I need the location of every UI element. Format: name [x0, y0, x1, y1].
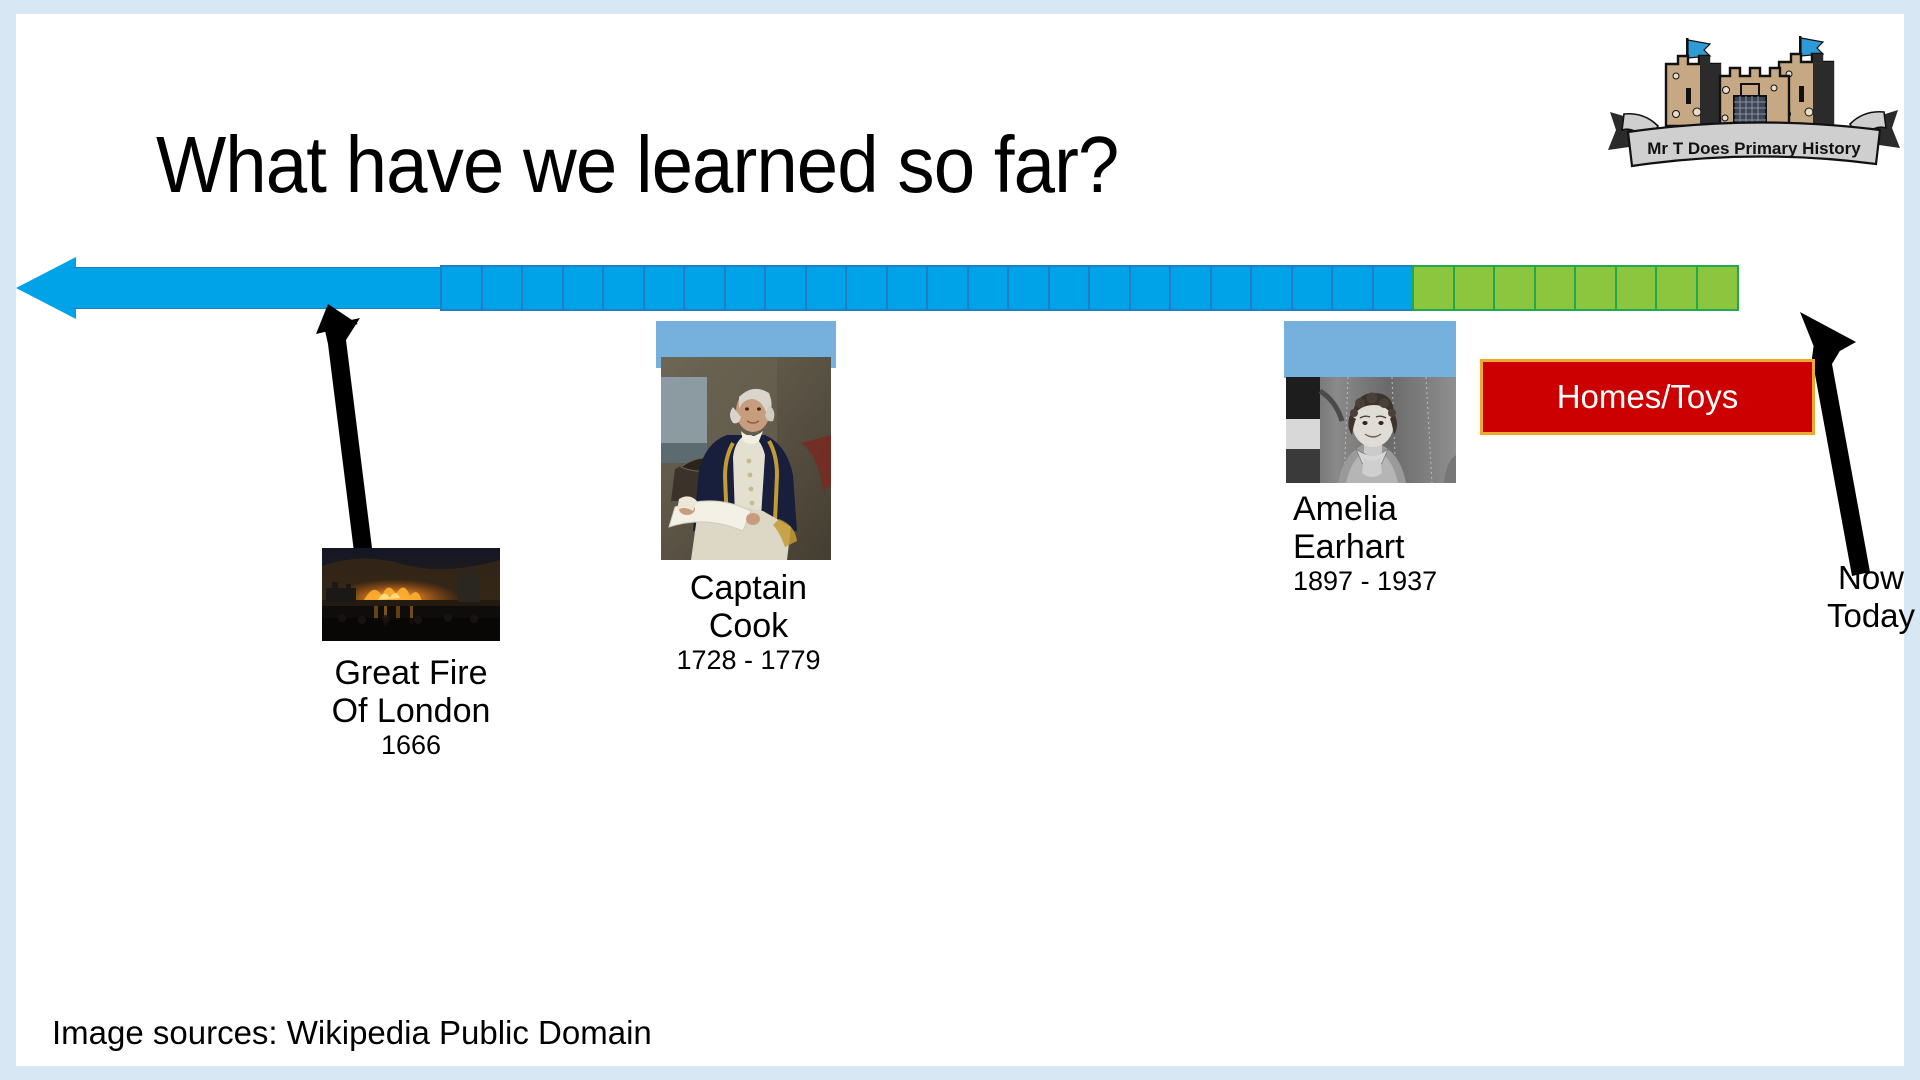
- homes-toys-label: Homes/Toys: [1557, 378, 1739, 416]
- timeline-segment-green: [1412, 265, 1455, 311]
- timeline-segment-blue: [521, 265, 564, 311]
- captain-cook-image: [661, 357, 831, 560]
- timeline-segment-blue: [724, 265, 767, 311]
- timeline-segment-blue: [643, 265, 686, 311]
- slide-canvas: What have we learned so far?: [16, 14, 1904, 1066]
- timeline-segment-blue: [481, 265, 524, 311]
- timeline-segment-blue: [1048, 265, 1091, 311]
- great-fire-caption: Great Fire Of London 1666: [266, 654, 556, 760]
- timeline-arrow-shaft: [74, 267, 444, 309]
- great-fire-name-line1: Great Fire: [266, 654, 556, 692]
- great-fire-dates: 1666: [266, 730, 556, 760]
- image-sources-footer: Image sources: Wikipedia Public Domain: [52, 1014, 652, 1052]
- now-label-line2: Today: [1806, 597, 1920, 635]
- timeline-segment-blue: [1210, 265, 1253, 311]
- now-today-label: Now Today: [1806, 559, 1920, 635]
- timeline-segment-blue: [845, 265, 888, 311]
- timeline-arrow-head: [16, 257, 76, 319]
- timeline-segment-blue: [1007, 265, 1050, 311]
- timeline-segment-blue: [886, 265, 929, 311]
- page-title: What have we learned so far?: [156, 119, 1365, 211]
- captain-cook-name-line1: Captain: [616, 569, 881, 607]
- timeline-segment-green: [1453, 265, 1496, 311]
- timeline-segment-blue: [1129, 265, 1172, 311]
- timeline-segment-blue: [440, 265, 483, 311]
- logo-banner-text: Mr T Does Primary History: [1647, 139, 1861, 158]
- timeline-segment-blue: [1331, 265, 1374, 311]
- castle-tower-left: [1666, 56, 1721, 126]
- captain-cook-dates: 1728 - 1779: [616, 645, 881, 675]
- amelia-earhart-caption: Amelia Earhart 1897 - 1937: [1293, 490, 1543, 596]
- amelia-earhart-image: [1286, 377, 1456, 483]
- timeline-bar: [16, 257, 1846, 319]
- timeline-segment-blue: [1088, 265, 1131, 311]
- timeline-segment-green: [1493, 265, 1536, 311]
- timeline-segment-blue: [1291, 265, 1334, 311]
- timeline-segment-blue: [1250, 265, 1293, 311]
- amelia-earhart-blue-band: [1284, 321, 1456, 378]
- timeline-segment-blue: [1372, 265, 1415, 311]
- timeline-segment-green: [1696, 265, 1739, 311]
- now-label-line1: Now: [1806, 559, 1920, 597]
- timeline-segment-blue: [1169, 265, 1212, 311]
- timeline-segment-blue: [967, 265, 1010, 311]
- amelia-earhart-dates: 1897 - 1937: [1293, 566, 1543, 596]
- great-fire-image: [322, 548, 500, 641]
- timeline-segment-blue: [805, 265, 848, 311]
- mr-t-does-primary-history-logo: Mr T Does Primary History: [1604, 26, 1904, 184]
- amelia-earhart-name-line1: Amelia: [1293, 490, 1543, 528]
- timeline-segment-green: [1655, 265, 1698, 311]
- pointer-arrow-great-fire: [316, 304, 446, 564]
- timeline-segment-blue: [562, 265, 605, 311]
- timeline-segment-green: [1615, 265, 1658, 311]
- castle-keep: [1720, 68, 1789, 126]
- amelia-earhart-name-line2: Earhart: [1293, 528, 1543, 566]
- timeline-segment-blue: [764, 265, 807, 311]
- timeline-segment-green: [1534, 265, 1577, 311]
- captain-cook-name-line2: Cook: [616, 607, 881, 645]
- timeline-segments: [440, 265, 1736, 311]
- timeline-segment-blue: [683, 265, 726, 311]
- homes-toys-label-box[interactable]: Homes/Toys: [1480, 359, 1815, 435]
- slide-frame: What have we learned so far?: [0, 0, 1920, 1080]
- captain-cook-caption: Captain Cook 1728 - 1779: [616, 569, 881, 675]
- timeline-segment-blue: [602, 265, 645, 311]
- timeline-segment-blue: [926, 265, 969, 311]
- timeline-segment-green: [1574, 265, 1617, 311]
- great-fire-name-line2: Of London: [266, 692, 556, 730]
